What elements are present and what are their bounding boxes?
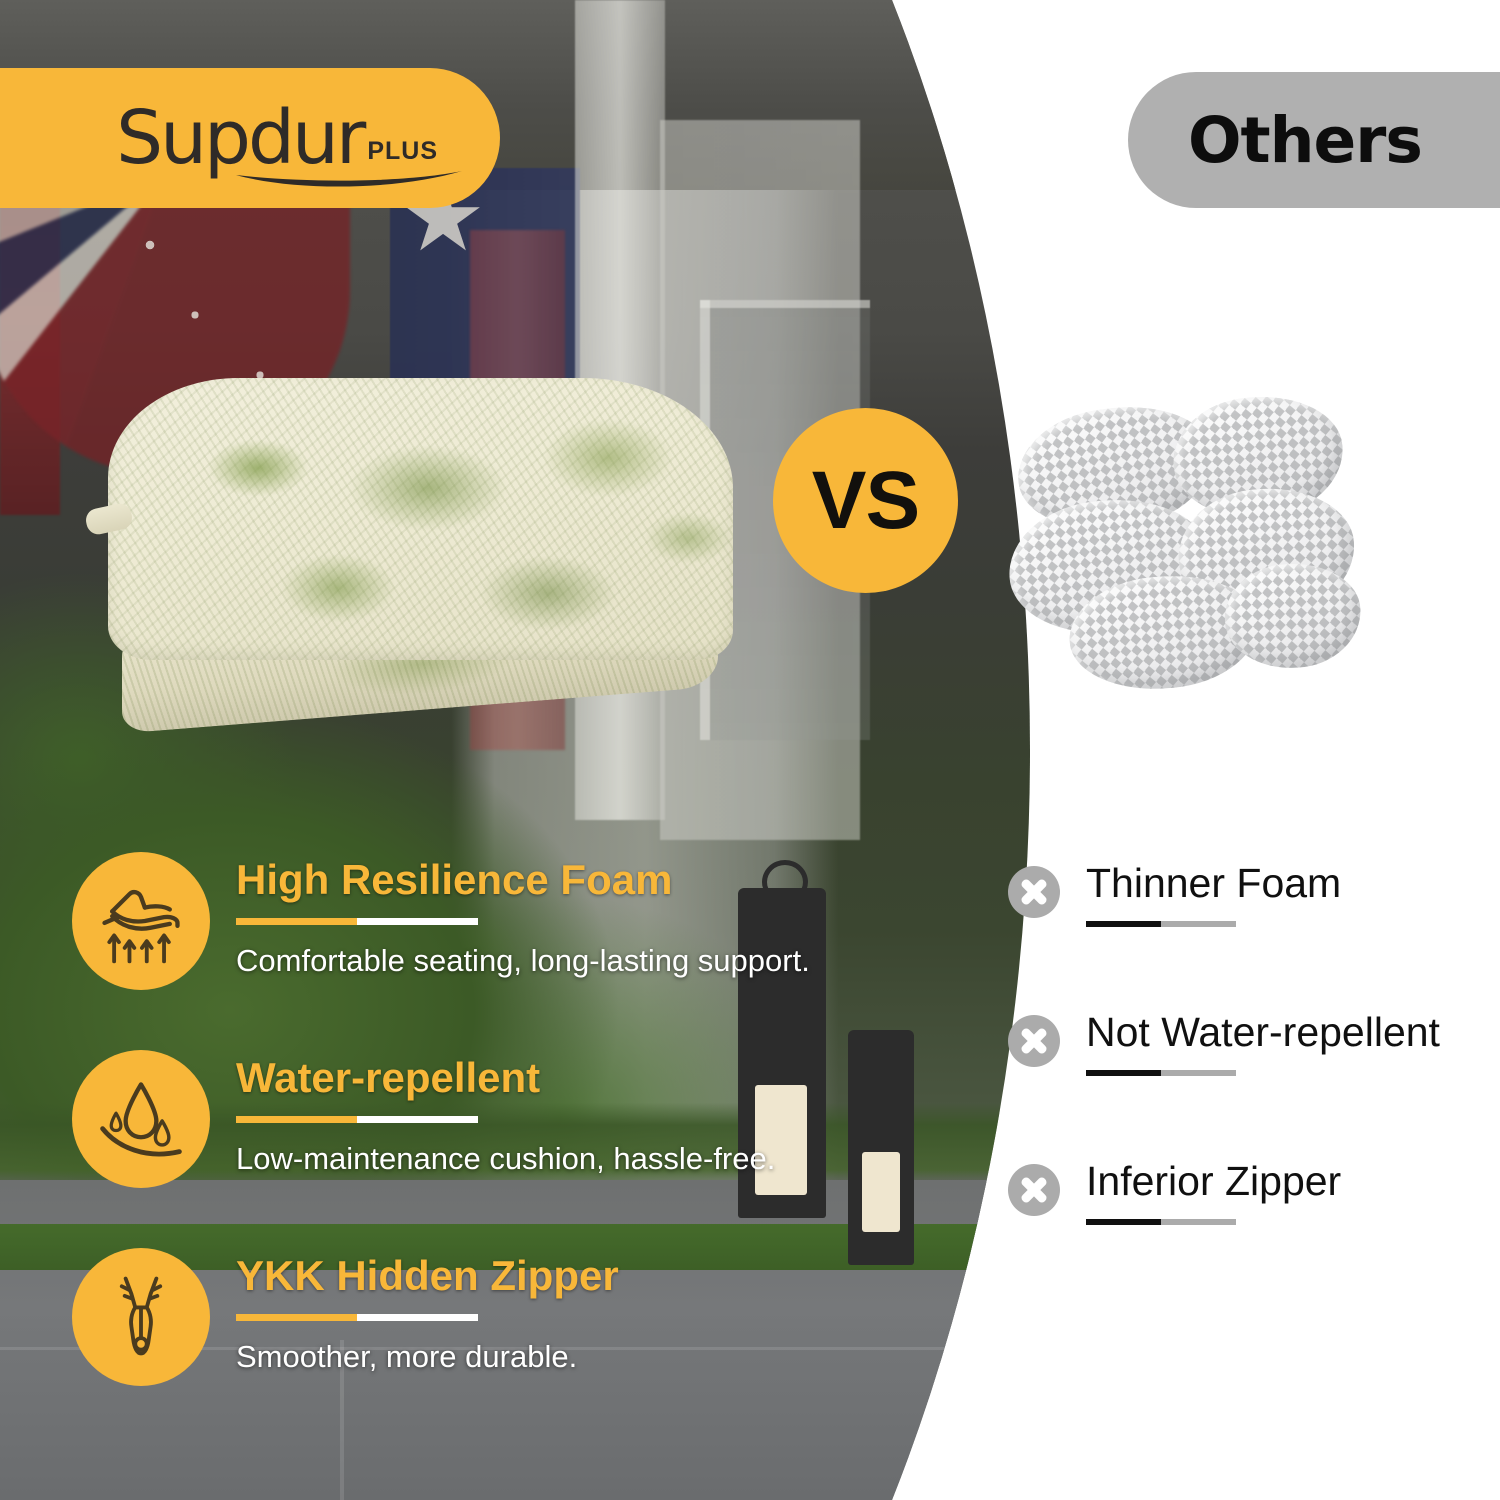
- feature-title: YKK Hidden Zipper: [236, 1254, 619, 1298]
- drawback-divider: [1086, 921, 1236, 927]
- others-banner: Others: [1128, 72, 1500, 208]
- cushion-top-surface: [108, 378, 733, 660]
- competitor-drawback-list: Thinner Foam Not Water-repellent Inferio…: [1008, 862, 1488, 1309]
- drawback-title: Thinner Foam: [1086, 862, 1341, 905]
- brand-plus-text: PLUS: [367, 137, 438, 166]
- others-title: Others: [1188, 104, 1422, 177]
- vs-badge: VS: [773, 408, 958, 593]
- brand-logo-badge: Supdur PLUS: [0, 68, 500, 208]
- feature-item: YKK Hidden Zipper Smoother, more durable…: [72, 1248, 862, 1388]
- feature-description: Smoother, more durable.: [236, 1339, 619, 1375]
- drawback-divider: [1086, 1070, 1236, 1076]
- comparison-infographic: Supdur PLUS VS: [0, 0, 1500, 1500]
- hand-supporting-cushion-icon: [72, 852, 210, 990]
- zipper-icon: [72, 1248, 210, 1386]
- logo-swoosh-icon: [234, 169, 464, 191]
- drawback-text-block: Thinner Foam: [1086, 862, 1341, 927]
- lantern-candle-small: [862, 1152, 900, 1232]
- feature-description: Low-maintenance cushion, hassle-free.: [236, 1141, 775, 1177]
- drawback-title: Inferior Zipper: [1086, 1160, 1341, 1203]
- feature-text-block: High Resilience Foam Comfortable seating…: [236, 852, 810, 979]
- feature-divider: [236, 1314, 478, 1321]
- feature-item: Water-repellent Low-maintenance cushion,…: [72, 1050, 862, 1190]
- x-circle-icon: [1008, 1015, 1060, 1067]
- brand-name-text: Supdur: [116, 101, 363, 175]
- drawback-item: Not Water-repellent: [1008, 1011, 1488, 1076]
- feature-text-block: YKK Hidden Zipper Smoother, more durable…: [236, 1248, 619, 1375]
- drawback-item: Thinner Foam: [1008, 862, 1488, 927]
- feature-title: High Resilience Foam: [236, 858, 810, 902]
- drawback-title: Not Water-repellent: [1086, 1011, 1440, 1054]
- feature-divider: [236, 918, 478, 925]
- feature-item: High Resilience Foam Comfortable seating…: [72, 852, 862, 992]
- feature-divider: [236, 1116, 478, 1123]
- feature-description: Comfortable seating, long-lasting suppor…: [236, 943, 810, 979]
- drawback-text-block: Not Water-repellent: [1086, 1011, 1440, 1076]
- vs-label: VS: [812, 454, 919, 548]
- x-circle-icon: [1008, 866, 1060, 918]
- drawback-text-block: Inferior Zipper: [1086, 1160, 1341, 1225]
- competitor-cushion-image: [1003, 394, 1343, 685]
- drawback-item: Inferior Zipper: [1008, 1160, 1488, 1225]
- brand-logo-wordmark: Supdur PLUS: [116, 101, 438, 175]
- feature-title: Water-repellent: [236, 1056, 775, 1100]
- product-feature-list: High Resilience Foam Comfortable seating…: [72, 852, 862, 1446]
- product-cushion-image: [108, 378, 733, 723]
- drawback-divider: [1086, 1219, 1236, 1225]
- water-droplet-repellent-icon: [72, 1050, 210, 1188]
- feature-text-block: Water-repellent Low-maintenance cushion,…: [236, 1050, 775, 1177]
- x-circle-icon: [1008, 1164, 1060, 1216]
